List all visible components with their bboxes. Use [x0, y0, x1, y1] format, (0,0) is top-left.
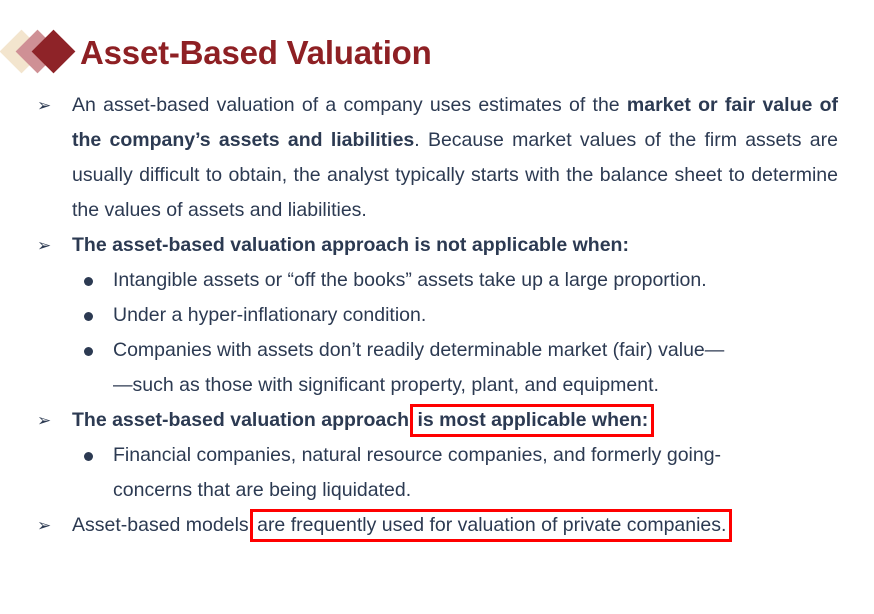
sub-bullet-item-4-line-1: Financial companies, natural resource co…: [113, 438, 834, 473]
slide-title-row: Asset-Based Valuation: [0, 22, 432, 82]
arrow-bullet-icon: ➢: [37, 228, 55, 263]
arrow-bullet-icon: ➢: [37, 88, 55, 123]
bullet-3-part-a: The asset-based valuation approach: [72, 409, 414, 431]
bullet-item-1: ➢ An asset-based valuation of a company …: [0, 88, 874, 228]
sub-bullet-item-4-line-2: concerns that are being liquidated.: [113, 473, 834, 508]
sub-bullet-item-3-line-2: —such as those with significant property…: [113, 368, 834, 403]
three-diamonds-icon: [4, 26, 76, 78]
bullet-4-part-a: Asset-based models: [72, 514, 254, 536]
slide-canvas: Asset-Based Valuation ➢ An asset-based v…: [0, 0, 874, 614]
round-bullet-icon: [84, 452, 93, 461]
bullet-item-3-text: The asset-based valuation approach is mo…: [72, 403, 838, 438]
bullet-1-part-a: An asset-based valuation of a company us…: [72, 94, 627, 116]
sub-bullet-item-2: Under a hyper-inflationary condition.: [0, 298, 874, 333]
slide-body: ➢ An asset-based valuation of a company …: [0, 88, 874, 543]
bullet-item-2: ➢ The asset-based valuation approach is …: [0, 228, 874, 263]
sub-bullet-item-3: Companies with assets don’t readily dete…: [0, 333, 874, 403]
sub-bullet-item-3-line-1: Companies with assets don’t readily dete…: [113, 333, 834, 368]
highlight-box-most-applicable: is most applicable when:: [414, 408, 650, 433]
bullet-item-2-text: The asset-based valuation approach is no…: [72, 228, 838, 263]
highlight-box-private-companies: are frequently used for valuation of pri…: [254, 513, 728, 538]
arrow-bullet-icon: ➢: [37, 403, 55, 438]
round-bullet-icon: [84, 312, 93, 321]
sub-bullet-item-2-text: Under a hyper-inflationary condition.: [113, 298, 834, 333]
round-bullet-icon: [84, 347, 93, 356]
sub-bullet-item-1: Intangible assets or “off the books” ass…: [0, 263, 874, 298]
bullet-item-4: ➢ Asset-based models are frequently used…: [0, 508, 874, 543]
sub-bullet-item-1-text: Intangible assets or “off the books” ass…: [113, 263, 834, 298]
sub-bullet-item-4: Financial companies, natural resource co…: [0, 438, 874, 508]
arrow-bullet-icon: ➢: [37, 508, 55, 543]
bullet-item-3: ➢ The asset-based valuation approach is …: [0, 403, 874, 438]
bullet-item-1-text: An asset-based valuation of a company us…: [72, 88, 838, 228]
round-bullet-icon: [84, 277, 93, 286]
bullet-item-4-text: Asset-based models are frequently used f…: [72, 508, 838, 543]
page-title: Asset-Based Valuation: [80, 36, 432, 69]
